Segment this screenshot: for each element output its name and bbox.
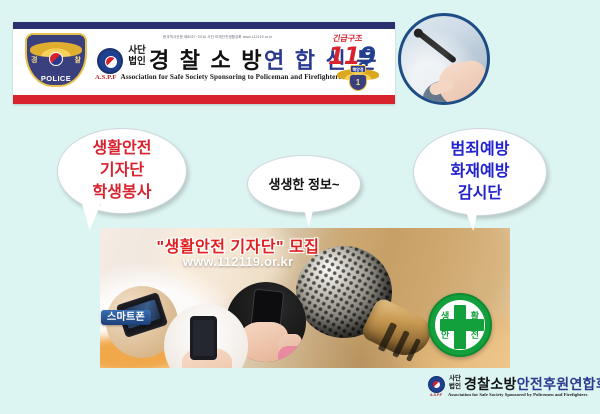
bubble-right-line-3: 감시단	[458, 183, 502, 205]
footer-prefix-line1: 사단	[449, 375, 461, 382]
banner-url[interactable]: www.112119.or.kr	[108, 254, 368, 269]
handheld-microphone-icon	[417, 31, 457, 64]
footer-roundel-icon	[428, 376, 445, 393]
footer-name-part1: 경찰소방	[464, 378, 517, 393]
police-shield-icon: 경 찰 POLICE	[25, 33, 87, 91]
bubble-left-line-2: 기자단	[100, 160, 144, 182]
bubble-middle-line-1: 생생한 정보~	[268, 176, 339, 193]
footer-english-subtitle: Association for Safe Society Sponsored b…	[448, 392, 587, 397]
mic-photo-circle	[398, 13, 490, 105]
green-logo-char-1: 생	[441, 311, 449, 321]
bubble-right-line-1: 범죄예방	[451, 139, 510, 161]
bubble-left-line-3: 학생봉사	[93, 182, 152, 204]
green-logo-char-2: 활	[471, 311, 479, 321]
footer-name-part2: 안전후원연합회	[517, 378, 600, 393]
clothing-shape-3	[278, 346, 304, 362]
speech-bubble-left: 생활안전 기자단 학생봉사	[57, 128, 187, 214]
bubble-left-line-1: 생활안전	[93, 138, 152, 160]
corporate-prefix: 사단 법인	[127, 45, 147, 67]
corporate-prefix-line2: 법인	[128, 56, 145, 67]
speech-bubble-middle: 생생한 정보~	[247, 155, 361, 213]
badge-top-text: 해양경찰	[350, 65, 366, 73]
masthead-english-subtitle: Association for Safe Society Sponsoring …	[121, 73, 342, 81]
masthead-micro-text: 한국역사신문 제8037~2016 사단 미래안전생활강화 www.112119…	[163, 34, 273, 39]
speech-bubble-right: 범죄예방 화재예방 감시단	[413, 128, 547, 216]
emergency-119-logo: 긴급구조 119 해양경찰 1	[327, 33, 389, 95]
bubble-right-line-2: 화재예방	[451, 161, 510, 183]
taeguk-icon	[49, 52, 63, 66]
newspaper-title-part1: 경 찰 소 방	[149, 48, 264, 73]
masthead-inner: 경 찰 POLICE 한국역사신문 제8037~2016 사단 미래안전생활강화…	[13, 29, 395, 95]
corporate-prefix-line1: 사단	[128, 45, 145, 56]
masthead-bottom-stripe	[13, 95, 395, 104]
aspf-roundel-icon	[97, 48, 123, 74]
masthead-top-stripe	[13, 22, 395, 29]
footer-corporate-prefix: 사단 법인	[448, 375, 462, 391]
smartphone-chip-label: 스마트폰	[101, 310, 151, 325]
newspaper-masthead: 경 찰 POLICE 한국역사신문 제8037~2016 사단 미래안전생활강화…	[13, 22, 395, 104]
smartphone-shape-2	[190, 316, 217, 360]
life-safety-green-logo: 생 활 안 전	[428, 293, 492, 357]
footer-prefix-line2: 법인	[449, 383, 461, 390]
poster-canvas: 경 찰 POLICE 한국역사신문 제8037~2016 사단 미래안전생활강화…	[0, 0, 600, 414]
footer-association-name: 경찰소방안전후원연합회	[464, 374, 600, 394]
association-footer-logo: 사단 법인 경찰소방안전후원연합회 A.S.P.F Association fo…	[428, 374, 592, 400]
green-logo-char-4: 전	[471, 330, 479, 340]
aspf-abbrev: A.S.P.F	[95, 74, 117, 81]
hand-shape	[436, 59, 490, 105]
shield-label: POLICE	[25, 74, 87, 83]
shield-char-left: 경	[31, 55, 37, 65]
green-logo-char-3: 안	[441, 330, 449, 340]
shield-char-right: 찰	[75, 55, 81, 65]
footer-aspf-abbrev: A.S.P.F	[430, 393, 442, 397]
coastguard-badge-icon: 해양경찰 1	[337, 65, 379, 92]
masthead-english-line: A.S.P.FAssociation for Safe Society Spon…	[95, 73, 342, 81]
badge-shield-number: 1	[349, 74, 367, 91]
